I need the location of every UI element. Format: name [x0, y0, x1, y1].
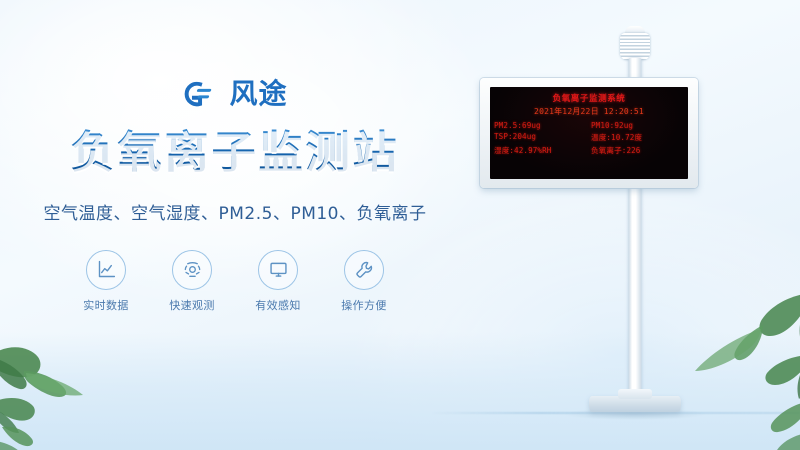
- feature-item-fast-observation: 快速观测: [161, 250, 223, 313]
- led-readings-grid: PM2.5:69ug PM10:92ug TSP:204ug 温度:10.72度…: [490, 121, 688, 156]
- led-screen: 负氧离子监测系统 2021年12月22日 12:20:51 PM2.5:69ug…: [490, 87, 688, 179]
- feature-label: 实时数据: [75, 297, 137, 313]
- sensor-louvers: [620, 33, 650, 60]
- feature-item-easy-operation: 操作方便: [333, 250, 395, 313]
- brand-logo: 风途: [0, 72, 470, 116]
- leaf-plant-icon: [681, 285, 800, 450]
- feature-label: 快速观测: [161, 297, 223, 313]
- poster-stage: 风途 负氧离子监测站 负氧离子监测站 空气温度、空气湿度、PM2.5、PM10、…: [0, 0, 800, 450]
- brand-name: 风途: [229, 80, 287, 108]
- leaf-plant-icon: [0, 315, 131, 450]
- line-chart-icon: [86, 250, 126, 290]
- led-display-panel: 负氧离子监测系统 2021年12月22日 12:20:51 PM2.5:69ug…: [480, 78, 698, 188]
- feature-label: 操作方便: [333, 297, 395, 313]
- feature-list: 实时数据 快速观测: [0, 250, 470, 313]
- monitor-icon: [258, 250, 298, 290]
- led-screen-title: 负氧离子监测系统: [490, 92, 688, 104]
- led-reading-humidity: 湿度:42.97%RH: [494, 145, 587, 156]
- led-reading-pm10: PM10:92ug: [591, 121, 684, 130]
- hero-subtitle: 空气温度、空气湿度、PM2.5、PM10、负氧离子: [0, 199, 470, 224]
- led-reading-tsp: TSP:204ug: [494, 132, 587, 143]
- feature-item-realtime-data: 实时数据: [75, 250, 137, 313]
- wind-g-logo-icon: [182, 78, 220, 110]
- radar-observe-icon: [172, 250, 212, 290]
- wrench-icon: [344, 250, 384, 290]
- led-reading-pm25: PM2.5:69ug: [494, 121, 587, 130]
- feature-label: 有效感知: [247, 297, 309, 313]
- page-title: 负氧离子监测站 负氧离子监测站: [71, 116, 400, 179]
- base-plate-icon: [589, 396, 681, 412]
- feature-item-effective-sensing: 有效感知: [247, 250, 309, 313]
- page-title-text: 负氧离子监测站: [71, 128, 400, 179]
- hero-copy-block: 风途 负氧离子监测站 负氧离子监测站 空气温度、空气湿度、PM2.5、PM10、…: [0, 72, 470, 313]
- led-reading-temperature: 温度:10.72度: [591, 132, 684, 143]
- led-reading-anion: 负氧离子:226: [591, 145, 684, 156]
- led-screen-datetime: 2021年12月22日 12:20:51: [490, 106, 688, 117]
